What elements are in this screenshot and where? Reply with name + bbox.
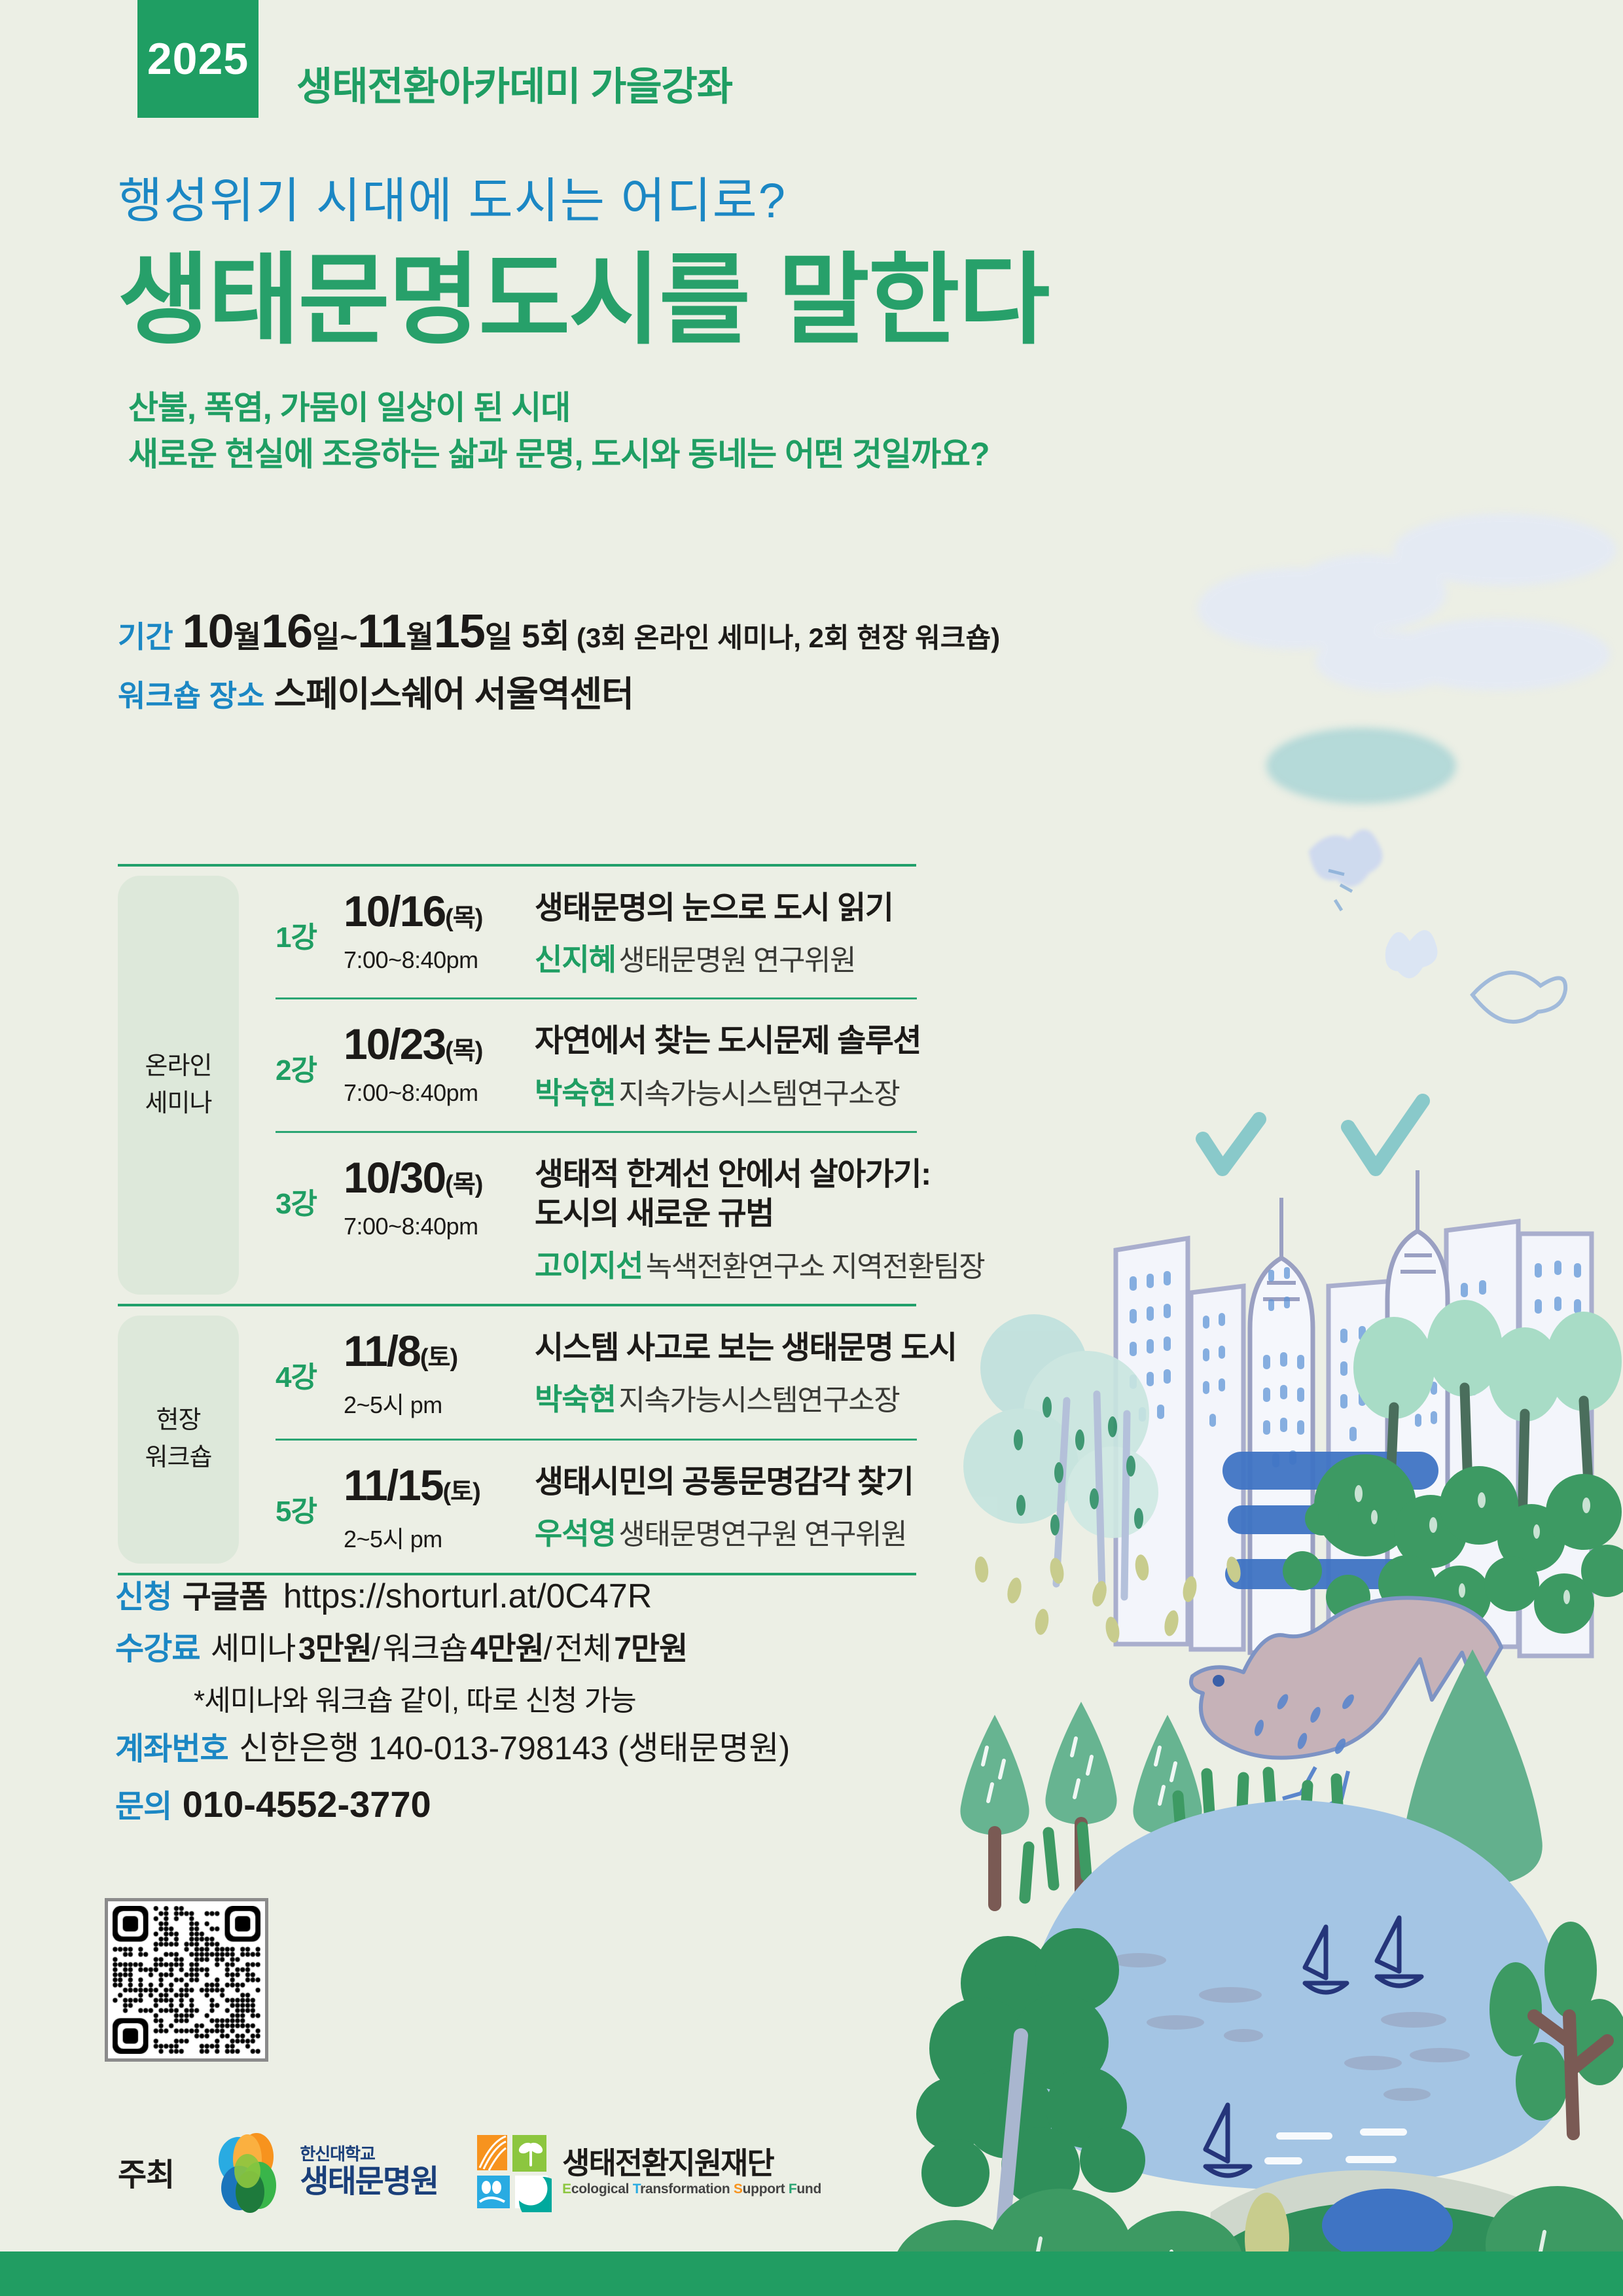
fee-sep-1: / bbox=[372, 1632, 380, 1666]
row-time: 7:00~8:40pm bbox=[344, 1079, 535, 1107]
row-title-line1: 자연에서 찾는 도시문제 솔루션 bbox=[535, 1022, 984, 1061]
speaker-name: 박숙현 bbox=[535, 1076, 616, 1110]
main-title: 생태문명도시를말한다 bbox=[118, 249, 1099, 353]
river-strokes bbox=[1222, 1452, 1438, 1589]
row-info-cell: 생태시민의 공통문명감각 찾기 우석영 생태문명연구원 연구위원 bbox=[535, 1460, 957, 1553]
academy-name: 생태전환아카데미 가을강좌 bbox=[296, 55, 732, 112]
venue-label: 워크숍 장소 bbox=[118, 677, 264, 715]
row-date: 11/15(토) bbox=[344, 1460, 535, 1510]
row-day-of-week: (토) bbox=[420, 1344, 457, 1372]
row-day-of-week: (토) bbox=[443, 1479, 480, 1506]
registration-info: 신청 구글폼 https://shorturl.at/0C47R 수강료 세미나… bbox=[115, 1571, 790, 1836]
venue-value: 스페이스쉐어 서울역센터 bbox=[274, 673, 633, 717]
row-title-line1: 생태적 한계선 안에서 살아가기: bbox=[535, 1155, 984, 1194]
grass-blades bbox=[1025, 1772, 1339, 1898]
cloud-group bbox=[1198, 514, 1616, 804]
bush-tree-trunk bbox=[1003, 2036, 1021, 2232]
hanshin-logo-icon bbox=[211, 2130, 289, 2213]
row-info-cell: 생태문명의 눈으로 도시 읽기 신지혜 생태문명원 연구위원 bbox=[535, 886, 984, 979]
eco-fund-cological: cological bbox=[571, 2181, 633, 2197]
speaker-affiliation: 생태문명원 연구위원 bbox=[618, 944, 855, 977]
bottom-accent-bar bbox=[0, 2251, 1623, 2296]
checkmark-birds bbox=[1203, 1101, 1423, 1169]
row-date: 10/23(목) bbox=[344, 1019, 535, 1069]
row-number: 5강 bbox=[276, 1460, 344, 1530]
right-conifer bbox=[1402, 1649, 1543, 1888]
period-day1-unit: 일 bbox=[312, 619, 340, 656]
period-month1: 10 bbox=[183, 602, 234, 661]
row-info-cell: 시스템 사고로 보는 생태문명 도시 박숙현 지속가능시스템연구소장 bbox=[535, 1326, 957, 1419]
row-date: 11/8(토) bbox=[344, 1326, 535, 1376]
row-date-cell: 10/16(목) 7:00~8:40pm bbox=[344, 886, 535, 974]
row-number: 3강 bbox=[276, 1153, 344, 1222]
year-badge: 2025 bbox=[137, 0, 259, 118]
main-title-part2: 말한다 bbox=[778, 249, 1049, 353]
green-bushes bbox=[1283, 1454, 1623, 1634]
fee-seminar-name: 세미나 bbox=[211, 1632, 295, 1666]
row-date: 10/30(목) bbox=[344, 1153, 535, 1202]
row-date-cell: 10/23(목) 7:00~8:40pm bbox=[344, 1019, 535, 1107]
contact-label: 문의 bbox=[115, 1789, 171, 1824]
host-label: 주최 bbox=[118, 2149, 174, 2195]
row-title-line1: 생태문명의 눈으로 도시 읽기 bbox=[535, 889, 984, 928]
apply-label: 신청 bbox=[115, 1580, 171, 1615]
row-speaker: 우석영 생태문명연구원 연구위원 bbox=[535, 1510, 957, 1553]
schedule-group-workshop: 현장 워크숍 4강 11/8(토) 2~5시 pm 시스템 사고로 보는 생태문… bbox=[118, 1306, 929, 1573]
fee-line: 수강료 세미나 3만원/ 워크숍 4만원/ 전체 7만원 bbox=[115, 1626, 790, 1673]
fee-workshop-name: 워크숍 bbox=[383, 1632, 467, 1666]
qr-code[interactable] bbox=[105, 1898, 268, 2062]
schedule-row: 1강 10/16(목) 7:00~8:40pm 생태문명의 눈으로 도시 읽기 … bbox=[276, 867, 984, 997]
row-speaker: 고이지선 녹색전환연구소 지역전환팀장 bbox=[535, 1242, 984, 1285]
category-pill-workshop: 현장 워크숍 bbox=[118, 1316, 239, 1564]
row-time: 7:00~8:40pm bbox=[344, 1213, 535, 1240]
row-info-cell: 자연에서 찾는 도시문제 솔루션 박숙현 지속가능시스템연구소장 bbox=[535, 1019, 984, 1112]
row-date-value: 10/30 bbox=[344, 1153, 445, 1202]
schedule-row: 4강 11/8(토) 2~5시 pm 시스템 사고로 보는 생태문명 도시 박숙… bbox=[276, 1306, 957, 1439]
row-number: 1강 bbox=[276, 886, 344, 956]
account-value: 신한은행 140-013-798143 (생태문명원) bbox=[239, 1730, 790, 1767]
row-date: 10/16(목) bbox=[344, 886, 535, 936]
apply-line: 신청 구글폼 https://shorturl.at/0C47R bbox=[115, 1571, 790, 1622]
fee-workshop-amount: 4만원 bbox=[471, 1632, 544, 1666]
period-month2: 11 bbox=[357, 602, 406, 661]
period-detail: (3회 온라인 세미나, 2회 현장 워크숍) bbox=[577, 621, 1000, 656]
logo-eco-fund: 생태전환지원재단 Ecological Transformation Suppo… bbox=[474, 2131, 821, 2212]
title-block: 행성위기 시대에 도시는 어디로? 생태문명도시를말한다 산불, 폭염, 가뭄이… bbox=[118, 177, 1099, 478]
bush-highlights bbox=[1355, 1485, 1590, 1604]
poster-header: 2025 생태전환아카데미 가을강좌 bbox=[0, 0, 1623, 118]
row-time: 7:00~8:40pm bbox=[344, 946, 535, 974]
row-speaker: 박숙현 지속가능시스템연구소장 bbox=[535, 1069, 984, 1113]
venue-row: 워크숍 장소 스페이스쉐어 서울역센터 bbox=[118, 673, 1000, 717]
category-workshop-line2: 워크숍 bbox=[145, 1439, 212, 1477]
speaker-name: 우석영 bbox=[535, 1516, 616, 1551]
apply-method: 구글폼 bbox=[183, 1580, 267, 1615]
category-online-line2: 세미나 bbox=[145, 1085, 212, 1122]
eco-fund-s: S bbox=[734, 2181, 743, 2197]
hanshin-eco-name: 생태문명원 bbox=[300, 2166, 438, 2198]
lede-line-2: 새로운 현실에 조응하는 삶과 문명, 도시와 동네는 어떤 것일까요? bbox=[128, 431, 1099, 478]
eco-fund-english-name: Ecological Transformation Support Fund bbox=[562, 2182, 821, 2196]
meta-block: 기간 10 월 16 일 ~ 11 월 15 일 5회 (3회 온라인 세미나,… bbox=[118, 602, 1000, 717]
period-label: 기간 bbox=[118, 619, 173, 656]
fee-label: 수강료 bbox=[115, 1632, 200, 1666]
row-title-line2: 도시의 새로운 규범 bbox=[535, 1194, 984, 1234]
row-number: 4강 bbox=[276, 1326, 344, 1395]
apply-url[interactable]: https://shorturl.at/0C47R bbox=[283, 1577, 652, 1615]
row-day-of-week: (목) bbox=[445, 905, 482, 932]
period-day2-unit: 일 bbox=[485, 619, 512, 656]
speaker-name: 박숙현 bbox=[535, 1382, 616, 1416]
ground-dashes bbox=[974, 1554, 1243, 1644]
row-date-value: 10/16 bbox=[344, 887, 445, 935]
fee-seminar-amount: 3만원 bbox=[298, 1632, 372, 1666]
row-time: 2~5시 pm bbox=[344, 1520, 535, 1554]
row-title-line1: 생태시민의 공통문명감각 찾기 bbox=[535, 1463, 957, 1502]
row-date-cell: 11/15(토) 2~5시 pm bbox=[344, 1460, 535, 1554]
round-bush-tree bbox=[916, 1928, 1145, 2207]
eco-fund-f: F bbox=[789, 2181, 797, 2197]
row-date-value: 10/23 bbox=[344, 1020, 445, 1068]
speaker-affiliation: 지속가능시스템연구소장 bbox=[618, 1384, 899, 1416]
eco-fund-ransformation: ransformation bbox=[640, 2181, 734, 2197]
period-tilde: ~ bbox=[340, 619, 357, 656]
period-day2: 15 bbox=[434, 602, 485, 661]
row-number: 2강 bbox=[276, 1019, 344, 1088]
eco-fund-und: und bbox=[796, 2181, 821, 2197]
lake bbox=[1021, 1800, 1572, 2190]
year-text: 2025 bbox=[147, 33, 249, 84]
contact-value: 010-4552-3770 bbox=[183, 1784, 431, 1825]
contact-line: 문의 010-4552-3770 bbox=[115, 1777, 790, 1832]
row-speaker: 신지혜 생태문명원 연구위원 bbox=[535, 936, 984, 979]
period-row: 기간 10 월 16 일 ~ 11 월 15 일 5회 (3회 온라인 세미나,… bbox=[118, 602, 1000, 661]
row-day-of-week: (목) bbox=[445, 1037, 482, 1065]
eco-fund-name: 생태전환지원재단 bbox=[562, 2148, 821, 2178]
poplar-trees bbox=[1353, 1300, 1622, 1525]
speaker-name: 고이지선 bbox=[535, 1249, 643, 1283]
row-date-value: 11/15 bbox=[344, 1461, 443, 1509]
speaker-affiliation: 지속가능시스템연구소장 bbox=[618, 1078, 899, 1110]
main-title-part1: 생태문명도시를 bbox=[118, 245, 749, 356]
fee-sep-2: / bbox=[544, 1632, 552, 1666]
row-speaker: 박숙현 지속가능시스템연구소장 bbox=[535, 1376, 957, 1419]
city-skyline bbox=[1116, 1170, 1592, 1656]
schedule-table: 온라인 세미나 1강 10/16(목) 7:00~8:40pm 생태문명의 눈으… bbox=[118, 864, 929, 1575]
poster-footer: 주최 한신대학교 생태문명원 bbox=[118, 2130, 821, 2213]
eco-fund-t: T bbox=[633, 2181, 640, 2197]
sky-birds bbox=[1309, 829, 1565, 1022]
eco-fund-logo-icon bbox=[474, 2131, 552, 2212]
schedule-group-online: 온라인 세미나 1강 10/16(목) 7:00~8:40pm 생태문명의 눈으… bbox=[118, 867, 929, 1304]
speaker-affiliation: 생태문명연구원 연구위원 bbox=[618, 1518, 906, 1551]
row-day-of-week: (목) bbox=[445, 1171, 482, 1198]
category-online-line1: 온라인 bbox=[145, 1048, 212, 1085]
right-small-trees bbox=[1489, 1922, 1623, 2134]
qr-canvas[interactable] bbox=[113, 1906, 260, 2054]
row-date-cell: 11/8(토) 2~5시 pm bbox=[344, 1326, 535, 1420]
fee-note: *세미나와 워크숍 같이, 따로 신청 가능 bbox=[194, 1677, 790, 1719]
schedule-row: 2강 10/23(목) 7:00~8:40pm 자연에서 찾는 도시문제 솔루션… bbox=[276, 999, 984, 1130]
dove-bird bbox=[1191, 1598, 1501, 1808]
eyebrow-text: 행성위기 시대에 도시는 어디로? bbox=[118, 177, 1099, 225]
row-time: 2~5시 pm bbox=[344, 1386, 535, 1420]
speaker-affiliation: 녹색전환연구소 지역전환팀장 bbox=[646, 1251, 984, 1283]
fee-all-amount: 7만원 bbox=[614, 1632, 687, 1666]
row-info-cell: 생태적 한계선 안에서 살아가기: 도시의 새로운 규범 고이지선 녹색전환연구… bbox=[535, 1153, 984, 1285]
hanshin-univ-label: 한신대학교 bbox=[300, 2145, 438, 2162]
lede-block: 산불, 폭염, 가뭄이 일상이 된 시대 새로운 현실에 조응하는 삶과 문명,… bbox=[128, 385, 1099, 478]
period-count: 5회 bbox=[522, 616, 570, 657]
period-day1: 16 bbox=[261, 602, 312, 661]
conifer-trees bbox=[960, 1702, 1202, 1905]
speaker-name: 신지혜 bbox=[535, 942, 616, 977]
pale-bushes bbox=[963, 1314, 1158, 1597]
row-date-value: 11/8 bbox=[344, 1327, 420, 1375]
account-line: 계좌번호 신한은행 140-013-798143 (생태문명원) bbox=[115, 1724, 790, 1773]
lede-line-1: 산불, 폭염, 가뭄이 일상이 된 시대 bbox=[128, 385, 1099, 431]
category-pill-online: 온라인 세미나 bbox=[118, 876, 239, 1295]
fee-all-name: 전체 bbox=[554, 1632, 611, 1666]
account-label: 계좌번호 bbox=[115, 1732, 228, 1767]
sailboats bbox=[1205, 1918, 1421, 2176]
period-month1-unit: 월 bbox=[234, 619, 261, 656]
logo-hanshin-eco: 한신대학교 생태문명원 bbox=[211, 2130, 438, 2213]
category-workshop-line1: 현장 bbox=[156, 1402, 201, 1439]
row-title-line1: 시스템 사고로 보는 생태문명 도시 bbox=[535, 1329, 957, 1368]
period-month2-unit: 월 bbox=[406, 619, 433, 656]
row-date-cell: 10/30(목) 7:00~8:40pm bbox=[344, 1153, 535, 1240]
schedule-row: 5강 11/15(토) 2~5시 pm 생태시민의 공통문명감각 찾기 우석영 … bbox=[276, 1441, 957, 1573]
eco-fund-upport: upport bbox=[743, 2181, 789, 2197]
schedule-row: 3강 10/30(목) 7:00~8:40pm 생태적 한계선 안에서 살아가기… bbox=[276, 1133, 984, 1304]
eco-fund-e: E bbox=[562, 2181, 571, 2197]
